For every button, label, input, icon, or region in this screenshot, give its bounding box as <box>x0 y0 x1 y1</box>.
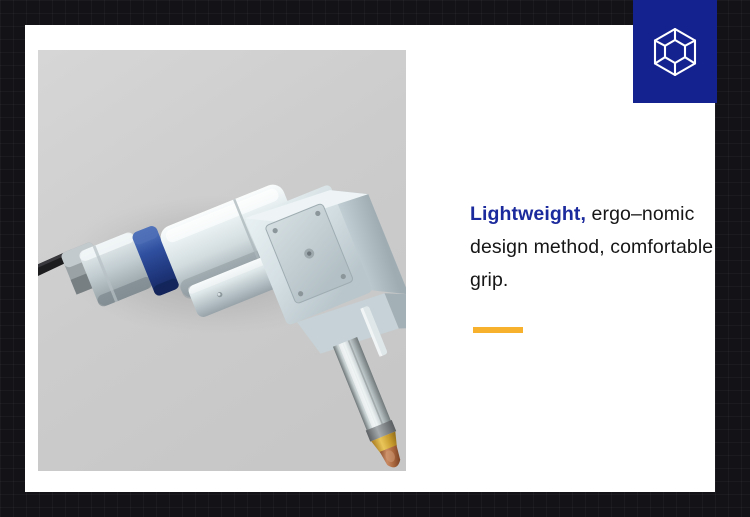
content-card: Lightweight, ergo–nomic design method, c… <box>25 25 715 492</box>
laser-welding-gun-image <box>38 50 406 471</box>
poster-frame: Lightweight, ergo–nomic design method, c… <box>0 0 750 517</box>
text-column: Lightweight, ergo–nomic design method, c… <box>406 25 715 492</box>
hex-cube-icon <box>652 27 698 77</box>
headline-accent: Lightweight, <box>470 203 586 225</box>
headline-text: Lightweight, ergo–nomic design method, c… <box>470 198 720 297</box>
accent-underline-bar <box>473 327 523 333</box>
brand-logo-badge[interactable] <box>633 0 717 103</box>
product-photo-panel <box>38 50 406 471</box>
